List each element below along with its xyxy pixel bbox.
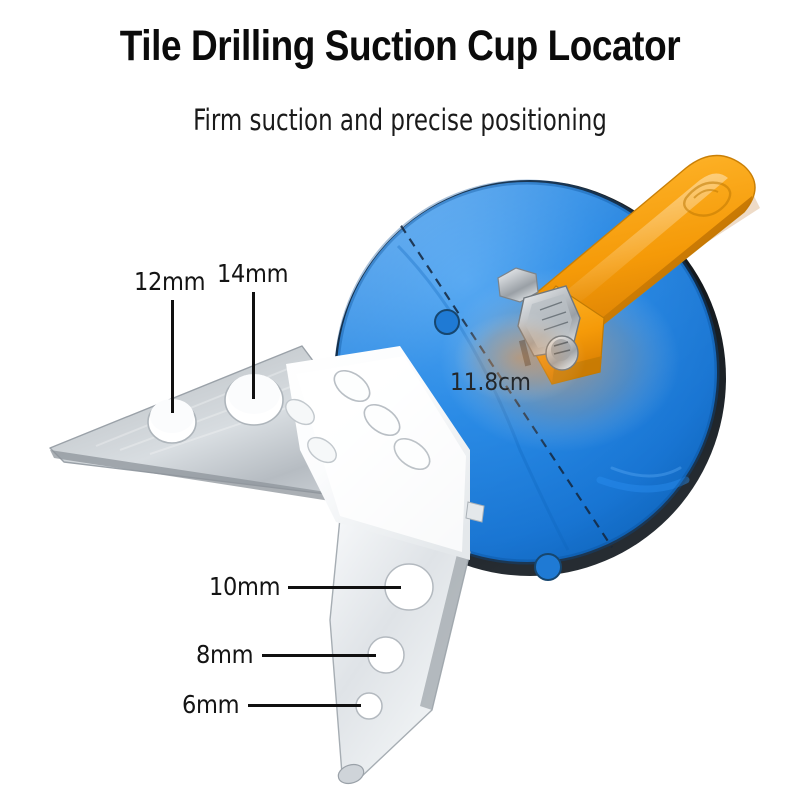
product-image-page: Tile Drilling Suction Cup Locator Firm s…: [0, 0, 800, 800]
page-title: Tile Drilling Suction Cup Locator: [56, 22, 744, 71]
callout-label-8mm: 8mm: [196, 640, 253, 669]
index-pin-lower: [535, 554, 561, 580]
callout-label-6mm: 6mm: [182, 690, 239, 719]
callout-leader-8mm: [262, 654, 376, 657]
callout-leader-10mm: [288, 586, 401, 589]
product-photo: [0, 150, 800, 800]
callout-leader-6mm: [248, 704, 361, 707]
index-pin-upper: [435, 310, 459, 334]
page-subtitle: Firm suction and precise positioning: [48, 103, 752, 137]
callout-label-14mm: 14mm: [217, 259, 288, 288]
callout-label-diameter: 11.8cm: [450, 368, 531, 396]
callout-leader-14mm: [252, 292, 255, 399]
callout-label-10mm: 10mm: [209, 572, 280, 601]
callout-leader-12mm: [171, 300, 174, 413]
callout-label-12mm: 12mm: [134, 267, 205, 296]
